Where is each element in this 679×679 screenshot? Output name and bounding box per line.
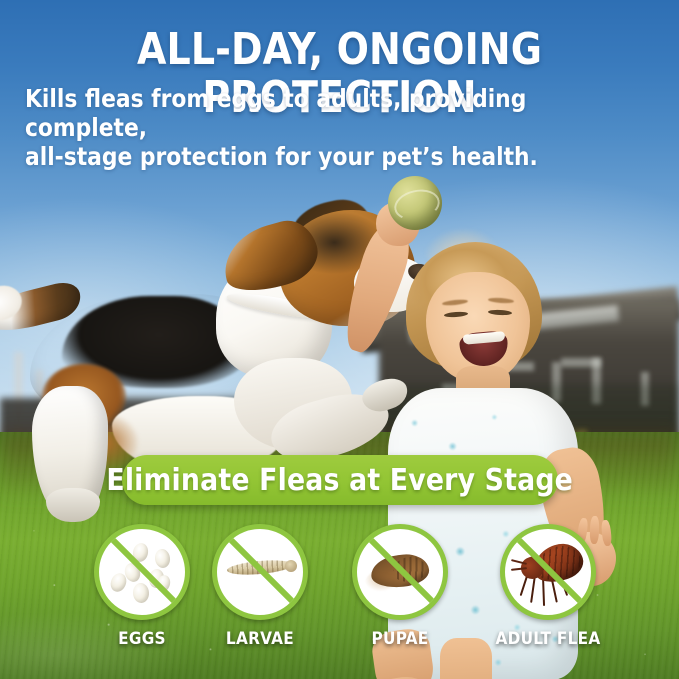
- tennis-ball: [388, 176, 442, 230]
- larva-head: [285, 560, 297, 572]
- flea-larva-icon: [212, 524, 308, 620]
- stage-label: PUPAE: [340, 629, 460, 649]
- banner-label: Eliminate Fleas at Every Stage: [107, 463, 574, 498]
- stage-eggs: EGGS: [82, 524, 202, 649]
- stage-label: ADULT FLEA: [488, 629, 608, 649]
- stage-larvae: LARVAE: [200, 524, 320, 649]
- flea-eggs-icon: [94, 524, 190, 620]
- flea-lifecycle-stages: EGGS LARVAE PUPAE: [0, 524, 679, 644]
- egg-shape: [132, 582, 149, 603]
- subtitle-line-2: all-stage protection for your pet’s heal…: [25, 142, 626, 171]
- subtitle: Kills fleas from eggs to adults, providi…: [25, 84, 626, 171]
- eliminate-fleas-banner: Eliminate Fleas at Every Stage: [122, 455, 558, 505]
- egg-shape: [154, 548, 171, 569]
- flea-treatment-ad-banner: ALL-DAY, ONGOING PROTECTION Kills fleas …: [0, 0, 679, 679]
- subtitle-line-1: Kills fleas from eggs to adults, providi…: [25, 84, 526, 142]
- stage-pupae: PUPAE: [340, 524, 460, 649]
- stage-label: LARVAE: [200, 629, 320, 649]
- stage-label: EGGS: [82, 629, 202, 649]
- adult-flea-icon: [500, 524, 596, 620]
- stage-adult-flea: ADULT FLEA: [488, 524, 608, 649]
- flea-pupa-icon: [352, 524, 448, 620]
